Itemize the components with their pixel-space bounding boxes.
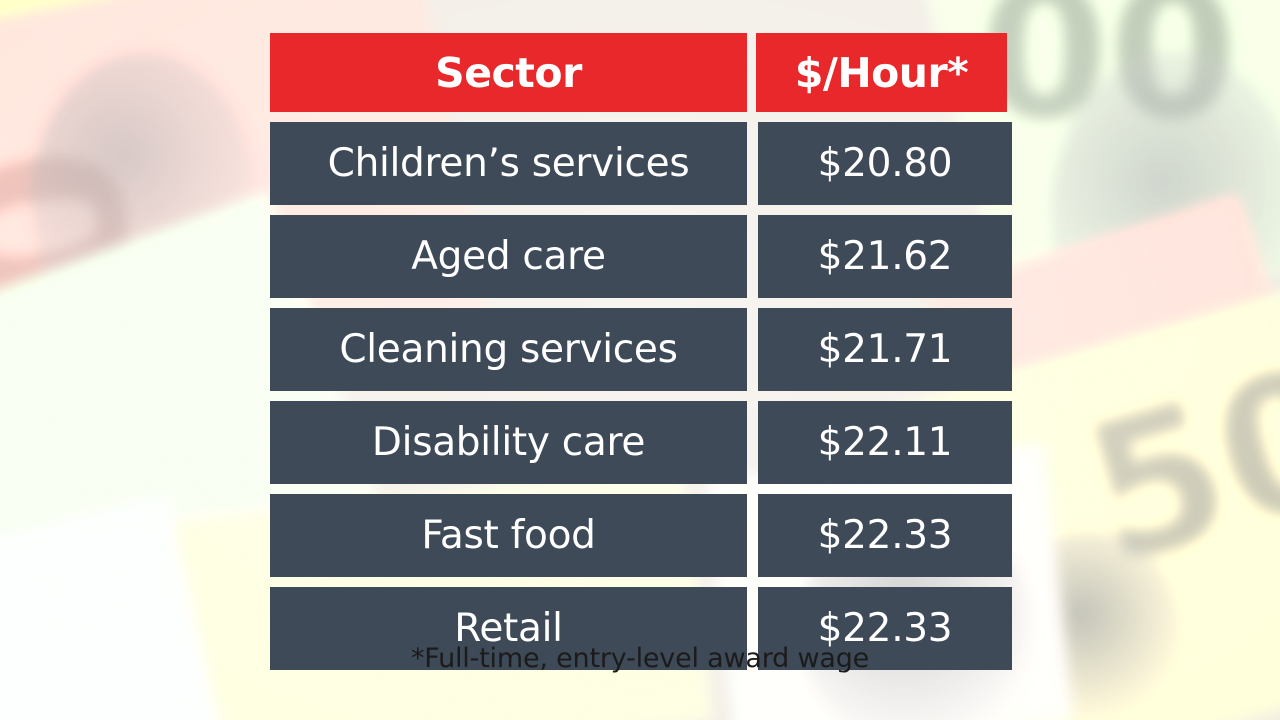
table-row: Disability care $22.11	[270, 401, 1012, 484]
column-header-sector-label: Sector	[435, 49, 582, 97]
sector-label: Disability care	[372, 420, 645, 465]
table-row: Fast food $22.33	[270, 494, 1012, 577]
rate-value: $22.33	[818, 513, 953, 558]
cell-sector: Aged care	[270, 215, 747, 298]
sector-label: Cleaning services	[339, 327, 677, 372]
cell-rate: $22.11	[758, 401, 1012, 484]
cell-sector: Disability care	[270, 401, 747, 484]
sector-label: Fast food	[421, 513, 595, 558]
table-row: Cleaning services $21.71	[270, 308, 1012, 391]
rate-value: $22.11	[818, 420, 953, 465]
cell-rate: $21.71	[758, 308, 1012, 391]
cell-rate: $21.62	[758, 215, 1012, 298]
rate-value: $21.62	[818, 234, 953, 279]
rate-value: $21.71	[818, 327, 953, 372]
cell-sector: Children’s services	[270, 122, 747, 205]
column-header-sector: Sector	[270, 33, 747, 112]
table-header-row: Sector $/Hour*	[270, 33, 1012, 112]
infographic-canvas: 20 00 50 Sector $/Hour*	[0, 0, 1280, 720]
table-row: Aged care $21.62	[270, 215, 1012, 298]
table-row: Children’s services $20.80	[270, 122, 1012, 205]
sector-label: Aged care	[411, 234, 605, 279]
column-header-rate-label: $/Hour*	[795, 49, 968, 97]
sector-label: Children’s services	[328, 141, 690, 186]
cell-sector: Cleaning services	[270, 308, 747, 391]
wage-table: Sector $/Hour* Children’s services $20.8…	[270, 33, 1012, 680]
cell-sector: Fast food	[270, 494, 747, 577]
column-header-rate: $/Hour*	[756, 33, 1007, 112]
cell-rate: $22.33	[758, 494, 1012, 577]
footnote: *Full-time, entry-level award wage	[0, 643, 1280, 674]
cell-rate: $20.80	[758, 122, 1012, 205]
rate-value: $20.80	[818, 141, 953, 186]
